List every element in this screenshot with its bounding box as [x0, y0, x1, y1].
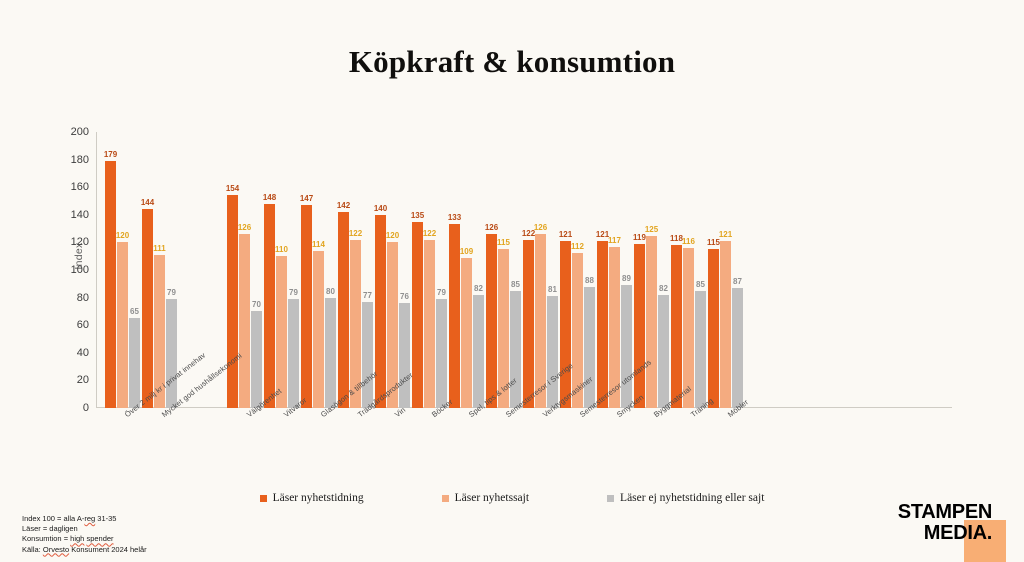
bar[interactable]: 135	[412, 222, 423, 408]
bar[interactable]: 116	[683, 248, 694, 408]
legend-item-newssite[interactable]: Läser nyhetssajt	[442, 492, 529, 504]
logo-line-1: STAMPEN	[898, 502, 992, 523]
logo-text: STAMPEN MEDIA.	[898, 502, 992, 544]
bar[interactable]: 122	[523, 240, 534, 408]
bar[interactable]: 126	[239, 234, 250, 408]
y-axis-tick: 200	[71, 126, 89, 138]
bar[interactable]: 82	[473, 295, 484, 408]
bar[interactable]: 85	[510, 291, 521, 408]
footnote-index: Index 100 = alla A-reg 31-35	[22, 514, 147, 524]
bar-value-label: 120	[386, 232, 399, 240]
logo-line-2: MEDIA.	[898, 523, 992, 544]
bar[interactable]: 147	[301, 205, 312, 408]
bar-group: 14711480	[301, 132, 336, 408]
stampen-media-logo: STAMPEN MEDIA.	[866, 500, 1006, 562]
bar-value-label: 77	[363, 292, 372, 300]
bar[interactable]: 114	[313, 251, 324, 408]
bar[interactable]: 82	[658, 295, 669, 408]
bar-group: 13512279	[412, 132, 447, 408]
bar-value-label: 120	[116, 232, 129, 240]
footnote-source: Källa: Orvesto Konsument 2024 helår	[22, 545, 147, 555]
bar-value-label: 121	[719, 231, 732, 239]
bar-group: 11512187	[708, 132, 743, 408]
bar-value-label: 126	[238, 224, 251, 232]
bar[interactable]: 121	[560, 241, 571, 408]
bar-value-label: 81	[548, 286, 557, 294]
bar-value-label: 125	[645, 226, 658, 234]
bar-value-label: 85	[696, 281, 705, 289]
bar-value-label: 154	[226, 185, 239, 193]
bar[interactable]: 88	[584, 287, 595, 408]
footnotes: Index 100 = alla A-reg 31-35 Läser = dag…	[22, 514, 147, 555]
bar-value-label: 79	[437, 289, 446, 297]
bar-value-label: 144	[141, 199, 154, 207]
bar-group: 13310982	[449, 132, 484, 408]
bar[interactable]: 140	[375, 215, 386, 408]
bar-value-label: 126	[485, 224, 498, 232]
y-axis-tick: 120	[71, 236, 89, 248]
bar[interactable]: 79	[436, 299, 447, 408]
bar[interactable]: 85	[695, 291, 706, 408]
bar-group: 11811685	[671, 132, 706, 408]
bar[interactable]: 121	[720, 241, 731, 408]
y-axis-tick: 20	[77, 374, 89, 386]
bar-group: 12611585	[486, 132, 521, 408]
legend-label-newssite: Läser nyhetssajt	[455, 492, 529, 504]
bar-value-label: 122	[349, 230, 362, 238]
bar[interactable]: 79	[288, 299, 299, 408]
bar-value-label: 112	[571, 243, 584, 251]
bar-value-label: 142	[337, 202, 350, 210]
bar[interactable]: 70	[251, 311, 262, 408]
bar[interactable]: 126	[486, 234, 497, 408]
bar-value-label: 114	[312, 241, 325, 249]
bar-value-label: 65	[130, 308, 139, 316]
bar[interactable]: 142	[338, 212, 349, 408]
bar-group: 14012076	[375, 132, 410, 408]
bar-value-label: 135	[411, 212, 424, 220]
bar[interactable]: 109	[461, 258, 472, 408]
bar[interactable]: 125	[646, 236, 657, 409]
bar[interactable]: 148	[264, 204, 275, 408]
y-axis-tick: 140	[71, 209, 89, 221]
y-axis-tick: 80	[77, 292, 89, 304]
bar-value-label: 115	[707, 239, 720, 247]
bar-value-label: 116	[682, 238, 695, 246]
bar[interactable]: 119	[634, 244, 645, 408]
bar-value-label: 80	[326, 288, 335, 296]
y-axis-tick: 180	[71, 154, 89, 166]
bar-value-label: 115	[497, 239, 510, 247]
bar[interactable]: 121	[597, 241, 608, 408]
bar-group: 14212277	[338, 132, 373, 408]
bar-value-label: 122	[423, 230, 436, 238]
y-axis-tick: 160	[71, 181, 89, 193]
y-axis-tick: 0	[83, 402, 89, 414]
bar-value-label: 111	[153, 245, 165, 253]
bar[interactable]: 77	[362, 302, 373, 408]
bar-group: 14811079	[264, 132, 299, 408]
bar-group: 12111789	[597, 132, 632, 408]
bar-value-label: 82	[474, 285, 483, 293]
bar-value-label: 76	[400, 293, 409, 301]
bar-group: 12212681	[523, 132, 558, 408]
legend-item-none[interactable]: Läser ej nyhetstidning eller sajt	[607, 492, 764, 504]
footnote-konsumtion: Konsumtion = high spender	[22, 534, 147, 544]
bar[interactable]: 79	[166, 299, 177, 408]
y-axis-tick: 40	[77, 347, 89, 359]
bar-value-label: 148	[263, 194, 276, 202]
bar[interactable]: 144	[142, 209, 153, 408]
bar-value-label: 79	[167, 289, 176, 297]
legend-label-none: Läser ej nyhetstidning eller sajt	[620, 492, 764, 504]
bar[interactable]: 115	[708, 249, 719, 408]
bar-value-label: 79	[289, 289, 298, 297]
bar-value-label: 109	[460, 248, 473, 256]
bar[interactable]: 154	[227, 195, 238, 408]
legend-swatch-none	[607, 495, 614, 502]
bar-value-label: 179	[104, 151, 117, 159]
bar[interactable]: 87	[732, 288, 743, 408]
page-title: Köpkraft & konsumtion	[0, 44, 1024, 80]
bar[interactable]: 65	[129, 318, 140, 408]
y-axis-tick: 100	[71, 264, 89, 276]
y-axis-title: Index	[73, 211, 85, 301]
bar[interactable]: 120	[117, 242, 128, 408]
bar-value-label: 126	[534, 224, 547, 232]
legend-swatch-newssite	[442, 495, 449, 502]
bar-value-label: 140	[374, 205, 387, 213]
bar[interactable]: 133	[449, 224, 460, 408]
bar[interactable]: 80	[325, 298, 336, 408]
footnote-laser: Läser = dagligen	[22, 524, 147, 534]
bar-value-label: 133	[448, 214, 461, 222]
bar-value-label: 118	[670, 235, 683, 243]
y-axis-tick: 60	[77, 319, 89, 331]
bar-value-label: 110	[275, 246, 288, 254]
bar-value-label: 82	[659, 285, 668, 293]
bar-value-label: 70	[252, 301, 261, 309]
bar-value-label: 89	[622, 275, 631, 283]
bar-group: 14411179	[142, 132, 177, 408]
bar[interactable]: 81	[547, 296, 558, 408]
legend-label-newspaper: Läser nyhetstidning	[273, 492, 364, 504]
bar-value-label: 87	[733, 278, 742, 286]
bar-value-label: 88	[585, 277, 594, 285]
bar-group: 17912065	[105, 132, 140, 408]
x-axis-category-labels: Över 2 milj kr i privat innehavMycket go…	[96, 412, 952, 492]
legend-item-newspaper[interactable]: Läser nyhetstidning	[260, 492, 364, 504]
bar-value-label: 85	[511, 281, 520, 289]
bar[interactable]: 122	[424, 240, 435, 408]
bar[interactable]: 118	[671, 245, 682, 408]
bar-value-label: 117	[608, 237, 621, 245]
legend-swatch-newspaper	[260, 495, 267, 502]
bar-value-label: 121	[559, 231, 572, 239]
bar[interactable]: 89	[621, 285, 632, 408]
bar-value-label: 147	[300, 195, 313, 203]
bar[interactable]: 179	[105, 161, 116, 408]
bar-value-label: 119	[633, 234, 646, 242]
bar[interactable]: 76	[399, 303, 410, 408]
